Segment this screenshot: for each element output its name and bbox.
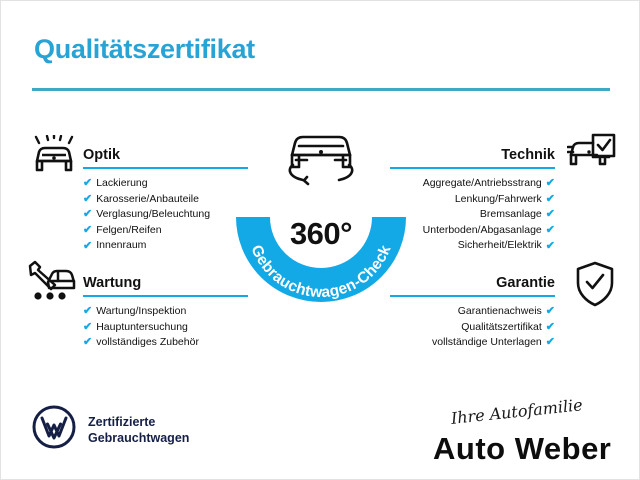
check-icon: ✔ [83, 225, 92, 236]
list-item-label: Bremsanlage [480, 207, 542, 223]
car-shine-icon [28, 135, 80, 179]
check-icon: ✔ [546, 178, 555, 189]
list-item-label: Qualitätszertifikat [461, 320, 542, 336]
shield-check-icon [573, 261, 617, 307]
list-item-label: Verglasung/Beleuchtung [96, 207, 210, 223]
check-icon: ✔ [83, 178, 92, 189]
check-icon: ✔ [83, 337, 92, 348]
list-item-label: Wartung/Inspektion [96, 304, 186, 320]
check-icon: ✔ [546, 306, 555, 317]
check-icon: ✔ [546, 225, 555, 236]
section-optik-title: Optik [83, 147, 120, 163]
list-item-label: Felgen/Reifen [96, 223, 161, 239]
check-icon: ✔ [83, 194, 92, 205]
vw-line-2: Gebrauchtwagen [88, 430, 189, 446]
section-garantie-title: Garantie [496, 275, 555, 291]
vw-certified-footer: Zertifizierte Gebrauchtwagen [32, 405, 189, 454]
vw-logo-icon [32, 405, 76, 454]
list-item-label: Lenkung/Fahrwerk [455, 192, 542, 208]
list-item-label: Innenraum [96, 238, 146, 254]
list-item: Qualitätszertifikat ✔ [390, 320, 555, 336]
vw-line-1: Zertifizierte [88, 414, 189, 430]
car-rotate-icon [290, 137, 352, 184]
check-icon: ✔ [83, 241, 92, 252]
check-icon: ✔ [546, 241, 555, 252]
list-item-label: Garantienachweis [458, 304, 542, 320]
list-item-label: Unterboden/Abgasanlage [423, 223, 542, 239]
list-item: vollständige Unterlagen ✔ [390, 335, 555, 351]
check-icon: ✔ [546, 194, 555, 205]
list-item-label: Aggregate/Antriebsstrang [423, 176, 542, 192]
badge-360-gebrauchtwagen-check: Gebrauchtwagen-Check [223, 119, 419, 315]
wrench-car-icon [25, 260, 81, 304]
check-icon: ✔ [83, 306, 92, 317]
list-item-label: Lackierung [96, 176, 147, 192]
list-item: ✔ Hauptuntersuchung [83, 320, 248, 336]
list-item-label: vollständiges Zubehör [96, 335, 199, 351]
list-item-label: Karosserie/Anbauteile [96, 192, 199, 208]
dealer-logo: Ihre Autofamilie Auto Weber [433, 409, 640, 471]
title-divider [32, 88, 610, 91]
dealer-script-text: Ihre Autofamilie [450, 395, 583, 428]
check-icon: ✔ [83, 209, 92, 220]
list-item-label: Hauptuntersuchung [96, 320, 188, 336]
check-icon: ✔ [83, 322, 92, 333]
badge-center-label: 360° [223, 216, 419, 252]
section-technik-title: Technik [501, 147, 555, 163]
section-wartung-title: Wartung [83, 275, 141, 291]
check-icon: ✔ [546, 337, 555, 348]
list-item-label: vollständige Unterlagen [432, 335, 542, 351]
list-item: ✔ vollständiges Zubehör [83, 335, 248, 351]
vw-certified-text: Zertifizierte Gebrauchtwagen [88, 414, 189, 446]
certificate-page: Qualitätszertifikat Optik ✔ Lackierung ✔… [0, 0, 640, 480]
page-title: Qualitätszertifikat [34, 34, 255, 65]
list-item-label: Sicherheit/Elektrik [458, 238, 542, 254]
check-icon: ✔ [546, 209, 555, 220]
car-checkbox-icon [567, 133, 617, 179]
check-icon: ✔ [546, 322, 555, 333]
dealer-name-text: Auto Weber [433, 431, 611, 467]
